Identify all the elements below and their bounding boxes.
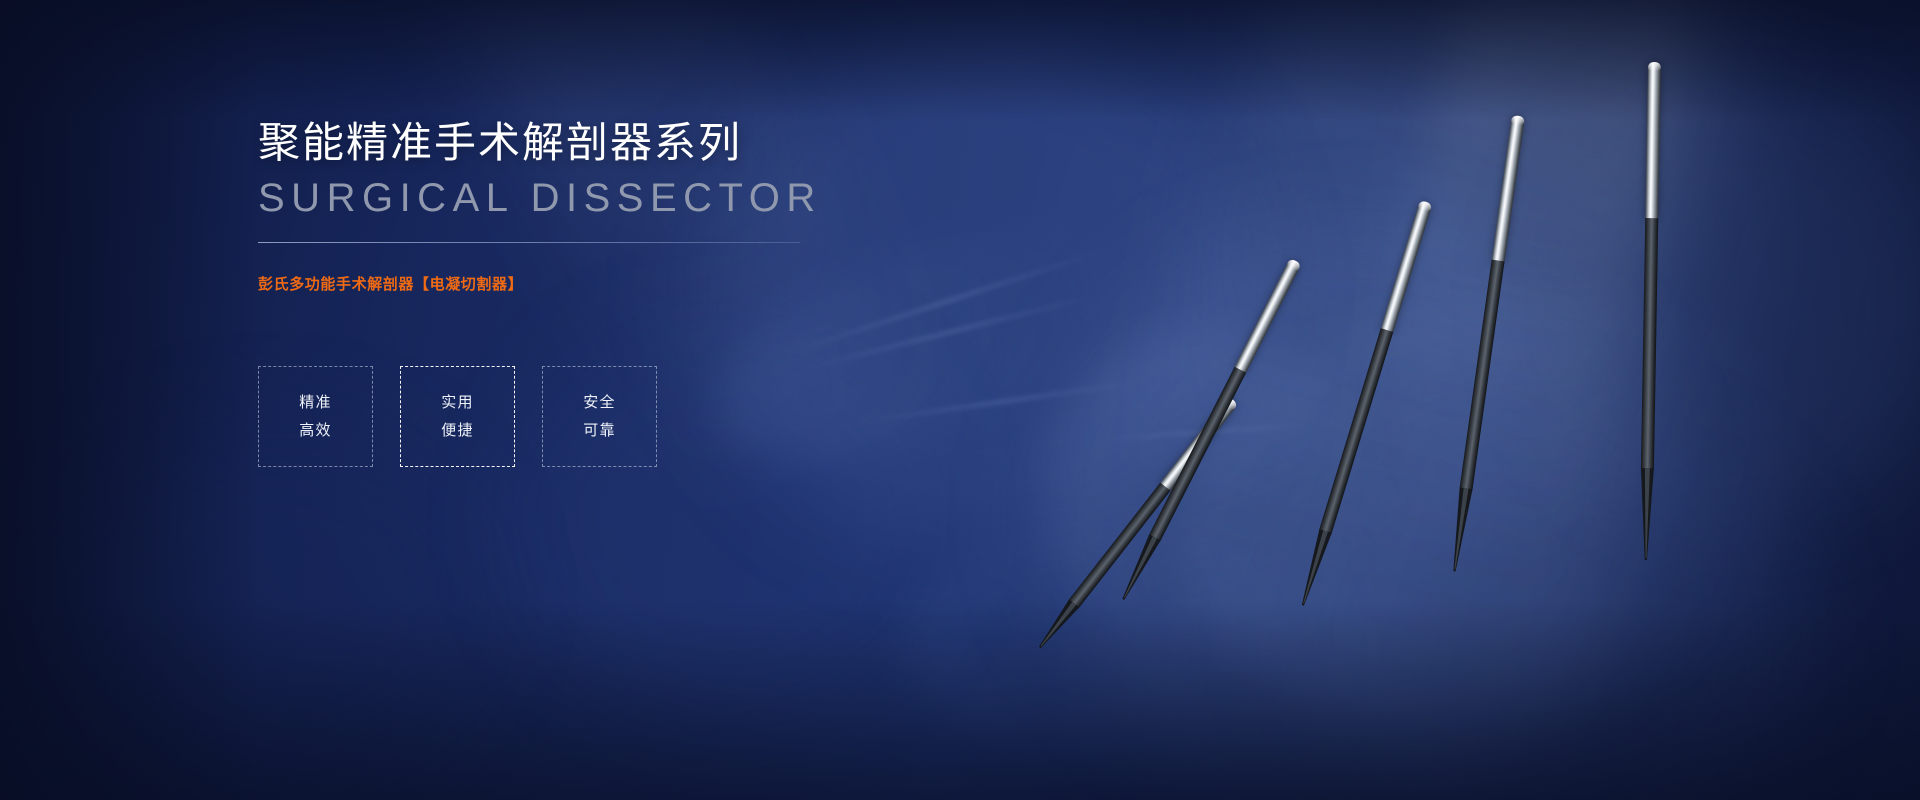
feature-box-practical[interactable]: 实用 便捷	[400, 366, 515, 467]
feature-line-2: 便捷	[441, 417, 473, 445]
title-divider	[258, 242, 800, 243]
feature-line-2: 可靠	[583, 417, 615, 445]
product-tagline: 彭氏多功能手术解剖器【电凝切割器】	[258, 277, 523, 292]
feature-line-1: 安全	[583, 389, 615, 417]
feature-box-precision[interactable]: 精准 高效	[258, 366, 373, 467]
banner-content: 聚能精准手术解剖器系列 SURGICAL DISSECTOR 彭氏多功能手术解剖…	[258, 0, 1018, 800]
page-title: 聚能精准手术解剖器系列	[258, 122, 742, 164]
hero-banner: 聚能精准手术解剖器系列 SURGICAL DISSECTOR 彭氏多功能手术解剖…	[0, 0, 1920, 800]
feature-line-1: 精准	[299, 389, 331, 417]
feature-box-safety[interactable]: 安全 可靠	[542, 366, 657, 467]
feature-line-2: 高效	[299, 417, 331, 445]
feature-line-1: 实用	[441, 389, 473, 417]
page-subtitle-english: SURGICAL DISSECTOR	[258, 178, 822, 218]
feature-box-group: 精准 高效 实用 便捷 安全 可靠	[258, 366, 657, 467]
